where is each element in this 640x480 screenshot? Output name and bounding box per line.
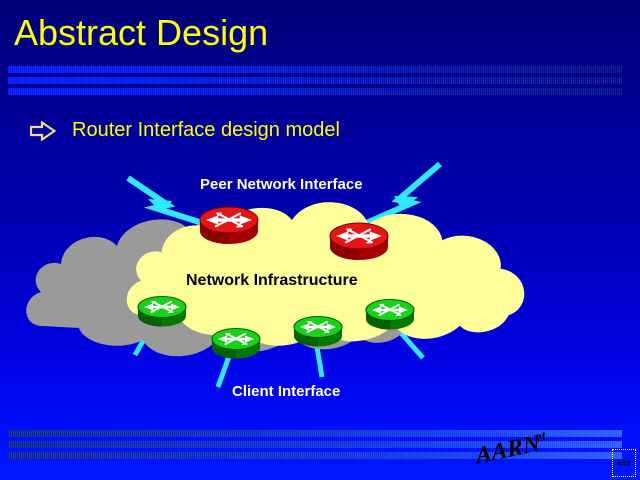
bullet-row: Router Interface design model [30, 119, 340, 142]
client-router-3 [294, 317, 342, 347]
svg-text:et: et [534, 429, 548, 446]
peer-network-interface-label: Peer Network Interface [200, 176, 363, 193]
peer-link-arrowheads [148, 196, 418, 214]
page-number-text: ### [613, 459, 635, 468]
svg-text:AARN: AARN [474, 430, 543, 464]
aarnet-logo: AARN et [474, 428, 570, 464]
peer-router-left [200, 207, 258, 244]
bullet-label: Router Interface design model [72, 119, 340, 142]
client-interface-label: Client Interface [232, 383, 340, 400]
decorative-bar [8, 66, 622, 73]
page-title: Abstract Design [14, 12, 268, 54]
top-decorative-bars [8, 66, 622, 99]
decorative-bar [8, 88, 622, 95]
slide-canvas: Abstract Design Router Interface design … [0, 0, 640, 480]
right-arrow-icon [30, 121, 56, 141]
client-router-2 [212, 329, 260, 359]
client-router-1 [138, 297, 186, 327]
peer-router-right [330, 223, 388, 260]
page-number-placeholder: ### [612, 449, 636, 477]
network-infrastructure-label: Network Infrastructure [186, 272, 358, 290]
client-router-4 [366, 300, 414, 330]
decorative-bar [8, 77, 622, 84]
